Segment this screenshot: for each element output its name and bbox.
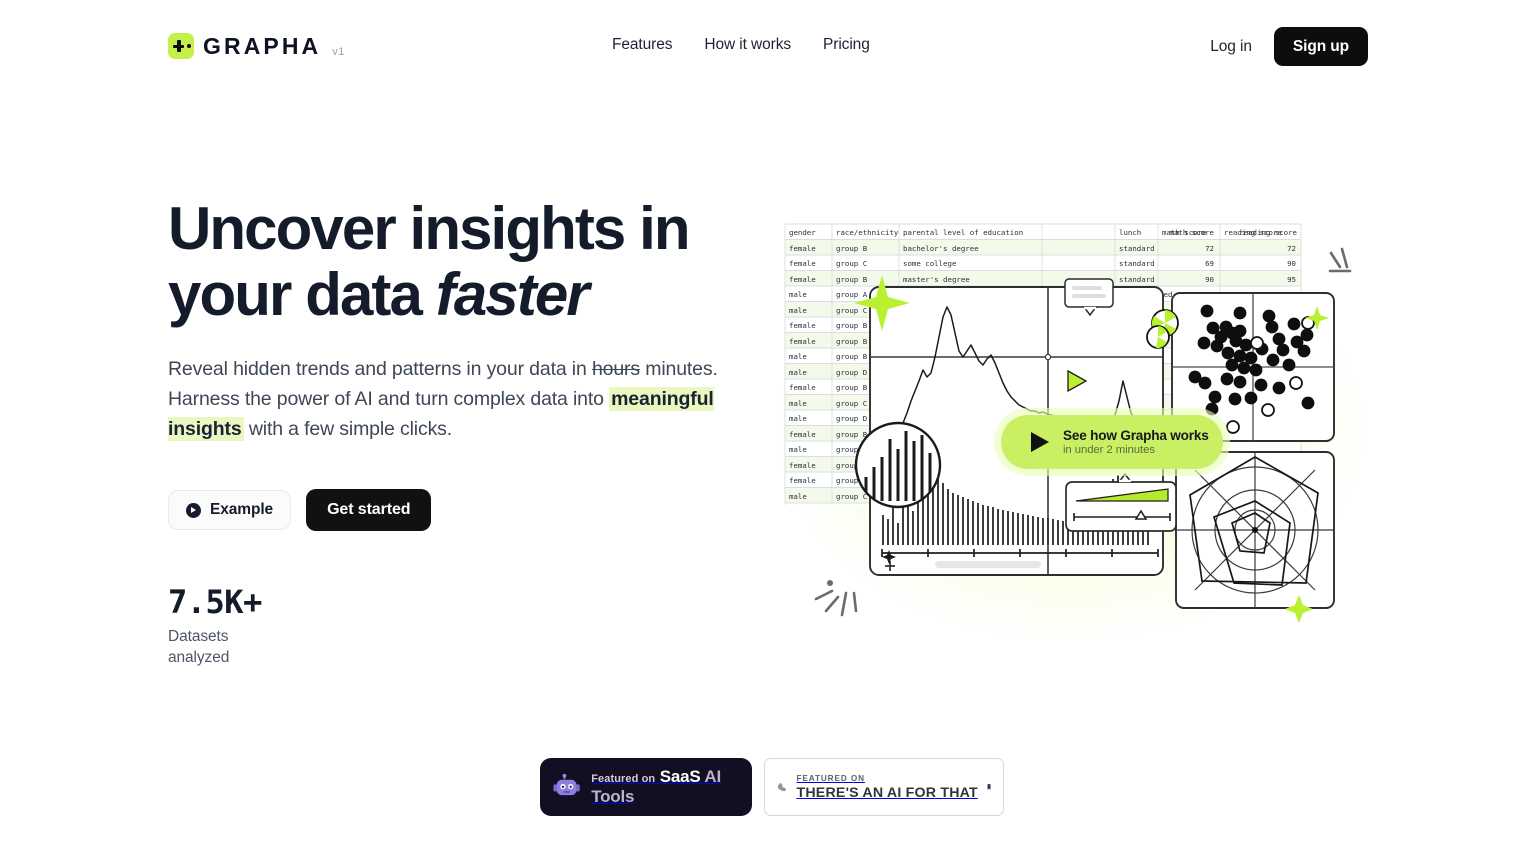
svg-text:group: group	[836, 445, 858, 454]
svg-text:bachelor's degree: bachelor's degree	[903, 244, 979, 253]
stat-label: Datasets analyzed	[168, 627, 768, 668]
brand-version: v1	[332, 46, 345, 58]
plus-dot-icon	[168, 33, 194, 59]
svg-text:69: 69	[1205, 259, 1214, 268]
example-button[interactable]: Example	[168, 490, 291, 530]
svg-text:group: group	[836, 476, 858, 485]
headline-emphasis: faster	[436, 261, 588, 328]
svg-text:female: female	[789, 337, 816, 346]
svg-text:reading score: reading score	[1224, 228, 1282, 237]
subtitle-part-1: Reveal hidden trends and patterns in you…	[168, 358, 592, 380]
svg-text:writing score: writing score	[1305, 228, 1363, 237]
svg-text:writing score: writing score	[1322, 228, 1370, 237]
svg-text:male: male	[789, 399, 807, 408]
robot-icon	[553, 772, 580, 802]
svg-text:74: 74	[1368, 244, 1370, 253]
table-header-right: math score reading score writing score	[1162, 228, 1363, 237]
main-nav: Features How it works Pricing	[612, 36, 870, 54]
subtitle-struck-word: hours	[592, 358, 640, 380]
bookmark-icon	[987, 776, 991, 798]
svg-text:male: male	[789, 445, 807, 454]
site-header: GRAPHA v1 Features How it works Pricing …	[0, 0, 1536, 94]
svg-text:male: male	[789, 352, 807, 361]
svg-text:90: 90	[1287, 259, 1296, 268]
slider-control-card	[1066, 474, 1176, 531]
page-title: Uncover insights in your data faster	[168, 196, 768, 328]
badge-saas-ai-tools[interactable]: Featured on SaaS AI Tools	[540, 758, 752, 816]
svg-text:93: 93	[1368, 275, 1370, 284]
svg-text:standard: standard	[1119, 275, 1155, 284]
stat-label-line-1: Datasets	[168, 628, 228, 645]
badge-theres-an-ai-for-that[interactable]: FEATURED ON THERE'S AN AI FOR THAT	[764, 758, 1004, 816]
headline-line-2: your data	[168, 261, 436, 328]
svg-text:group B: group B	[836, 383, 868, 392]
svg-text:group B: group B	[836, 430, 868, 439]
video-cta-title: See how Grapha works	[1063, 428, 1209, 443]
svg-text:female: female	[789, 383, 816, 392]
svg-text:group C: group C	[836, 399, 867, 408]
video-cta-subtitle: in under 2 minutes	[1063, 444, 1209, 456]
svg-text:group B: group B	[836, 352, 868, 361]
svg-text:male: male	[789, 290, 807, 299]
svg-text:female: female	[789, 275, 816, 284]
svg-text:some college: some college	[903, 259, 957, 268]
hero-cta-row: Example Get started	[168, 489, 768, 531]
doodle-lines-top-right	[1330, 249, 1350, 271]
chart-panel-radar	[1176, 452, 1334, 608]
svg-text:group C: group C	[836, 306, 867, 315]
svg-text:male: male	[789, 368, 807, 377]
subtitle-part-3: with a few simple clicks.	[244, 418, 453, 440]
hero-copy: Uncover insights in your data faster Rev…	[168, 196, 768, 668]
badge-text-group: Featured on SaaS AI Tools	[591, 767, 752, 807]
pinwheel-loader-secondary	[1147, 326, 1169, 348]
login-link[interactable]: Log in	[1210, 38, 1252, 56]
svg-text:parental level of education: parental level of education	[903, 228, 1023, 237]
svg-text:male: male	[789, 414, 807, 423]
svg-text:gender: gender	[789, 228, 816, 237]
svg-text:race/ethnicity: race/ethnicity	[836, 228, 899, 237]
flex-arm-icon	[777, 770, 787, 804]
svg-text:male: male	[789, 492, 807, 501]
doodle-lines-bottom-left	[816, 580, 856, 615]
stat-block: 7.5K+ Datasets analyzed	[168, 586, 768, 668]
nav-item-pricing[interactable]: Pricing	[823, 36, 870, 54]
brand-logo[interactable]: GRAPHA v1	[168, 33, 345, 59]
brand-name: GRAPHA	[203, 35, 321, 58]
stat-label-line-2: analyzed	[168, 649, 229, 666]
footer-skeleton	[935, 561, 1041, 568]
svg-text:female: female	[789, 259, 816, 268]
badge-light-title: THERE'S AN AI FOR THAT	[796, 785, 977, 801]
svg-text:female: female	[789, 244, 816, 253]
video-cta-pill[interactable]: See how Grapha works in under 2 minutes	[1001, 415, 1223, 469]
svg-text:group B: group B	[836, 275, 868, 284]
svg-text:group C: group C	[836, 259, 867, 268]
play-triangle-icon	[1029, 430, 1051, 454]
svg-text:72: 72	[1287, 244, 1296, 253]
svg-text:master's degree: master's degree	[903, 275, 970, 284]
svg-text:group B: group B	[836, 337, 868, 346]
play-circle-icon	[186, 503, 201, 518]
headline-line-1: Uncover insights in	[168, 195, 689, 262]
badge-light-text: FEATURED ON THERE'S AN AI FOR THAT	[796, 774, 977, 801]
example-button-label: Example	[210, 501, 273, 519]
svg-text:standard: standard	[1119, 259, 1155, 268]
svg-text:group A: group A	[836, 290, 868, 299]
svg-text:group B: group B	[836, 244, 868, 253]
featured-badges: Featured on SaaS AI Tools FEATURED ON TH…	[540, 758, 1004, 816]
svg-text:male: male	[789, 306, 807, 315]
svg-text:88: 88	[1368, 259, 1370, 268]
svg-text:female: female	[789, 476, 816, 485]
svg-text:group D: group D	[836, 414, 867, 423]
svg-text:group B: group B	[836, 321, 868, 330]
auth-actions: Log in Sign up	[1210, 27, 1368, 66]
badge-light-subtitle: FEATURED ON	[796, 774, 977, 783]
svg-text:group D: group D	[836, 368, 867, 377]
svg-text:90: 90	[1205, 275, 1214, 284]
svg-text:95: 95	[1287, 275, 1296, 284]
svg-text:female: female	[789, 430, 816, 439]
svg-text:female: female	[789, 461, 816, 470]
stat-value: 7.5K+	[168, 586, 768, 618]
nav-item-features[interactable]: Features	[612, 36, 672, 54]
video-cta-text: See how Grapha works in under 2 minutes	[1063, 428, 1209, 456]
get-started-button[interactable]: Get started	[306, 489, 431, 531]
svg-text:female: female	[789, 321, 816, 330]
svg-text:standard: standard	[1119, 244, 1155, 253]
svg-text:72: 72	[1205, 244, 1214, 253]
badge-subtitle: Featured on	[591, 773, 655, 785]
hero-subtitle: Reveal hidden trends and patterns in you…	[168, 354, 748, 444]
magnifier-lens	[856, 423, 940, 507]
nav-item-how-it-works[interactable]: How it works	[704, 36, 791, 54]
svg-text:lunch: lunch	[1119, 228, 1141, 237]
signup-button[interactable]: Sign up	[1274, 27, 1368, 66]
svg-text:group C: group C	[836, 492, 867, 501]
badge-title-strong: SaaS	[660, 767, 701, 786]
svg-text:math score: math score	[1162, 228, 1207, 237]
